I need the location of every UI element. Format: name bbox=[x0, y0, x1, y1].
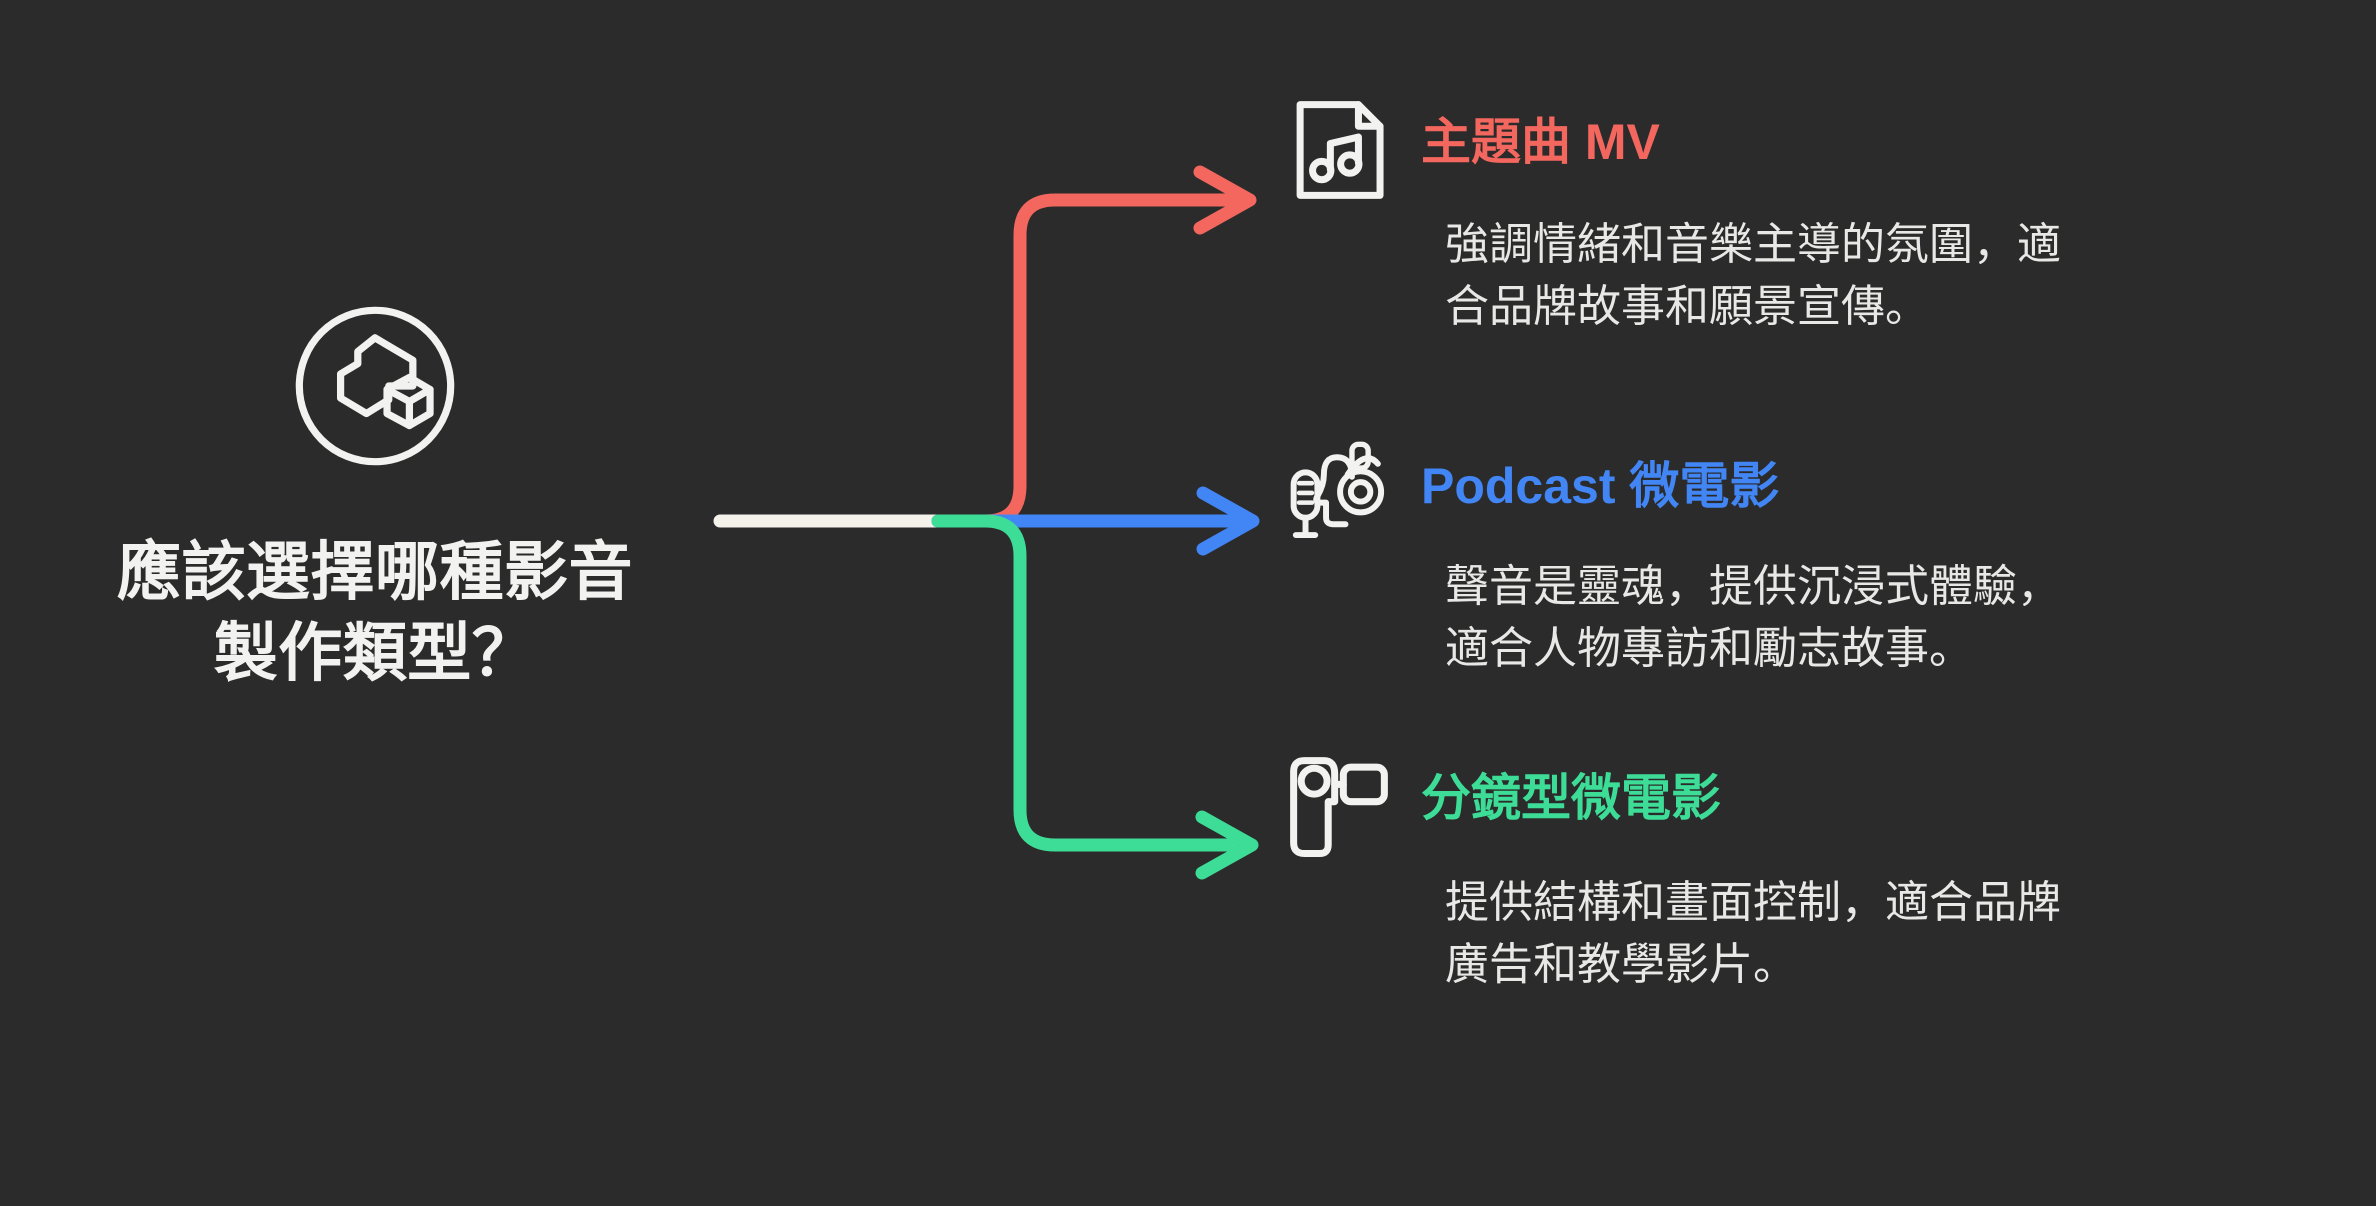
branch-arrow-mv bbox=[1200, 172, 1250, 228]
cube-package-icon bbox=[289, 300, 461, 472]
branch-mv: 主題曲 MV 強調情緒和音樂主導的氛圍，適合品牌故事和願景宣傳。 bbox=[1285, 96, 2345, 339]
music-file-icon bbox=[1285, 96, 1393, 204]
branch-title: 主題曲 MV bbox=[1421, 96, 1660, 169]
branch-description: 強調情緒和音樂主導的氛圍，適合品牌故事和願景宣傳。 bbox=[1445, 214, 2065, 339]
branch-arrow-storyboard bbox=[1202, 817, 1252, 873]
branch-line-mv bbox=[938, 200, 1230, 521]
branch-storyboard: 分鏡型微電影 提供結構和畫面控制，適合品牌廣告和教學影片。 bbox=[1285, 752, 2345, 997]
branch-podcast: Podcast 微電影 聲音是靈魂，提供沉浸式體驗，適合人物專訪和勵志故事。 bbox=[1285, 440, 2345, 681]
branch-description: 提供結構和畫面控制，適合品牌廣告和教學影片。 bbox=[1445, 872, 2065, 997]
root-node: 應該選擇哪種影音 製作類型？ bbox=[30, 300, 720, 693]
diagram-canvas: 應該選擇哪種影音 製作類型？ 主題曲 MV 強調情緒和音樂主導的氛圍，適合品牌故… bbox=[0, 0, 2376, 1206]
branch-description: 聲音是靈魂，提供沉浸式體驗，適合人物專訪和勵志故事。 bbox=[1445, 556, 2065, 681]
branch-header: 分鏡型微電影 bbox=[1285, 752, 2345, 862]
branch-title: Podcast 微電影 bbox=[1421, 440, 1779, 513]
branch-header: Podcast 微電影 bbox=[1285, 440, 2345, 552]
branch-title: 分鏡型微電影 bbox=[1421, 752, 1721, 825]
branch-line-storyboard bbox=[938, 521, 1232, 845]
camcorder-icon bbox=[1285, 752, 1393, 860]
podcast-microphone-headphones-icon bbox=[1285, 440, 1393, 548]
branch-arrow-podcast bbox=[1203, 493, 1253, 549]
root-title: 應該選擇哪種影音 製作類型？ bbox=[30, 532, 720, 693]
branch-header: 主題曲 MV bbox=[1285, 96, 2345, 206]
